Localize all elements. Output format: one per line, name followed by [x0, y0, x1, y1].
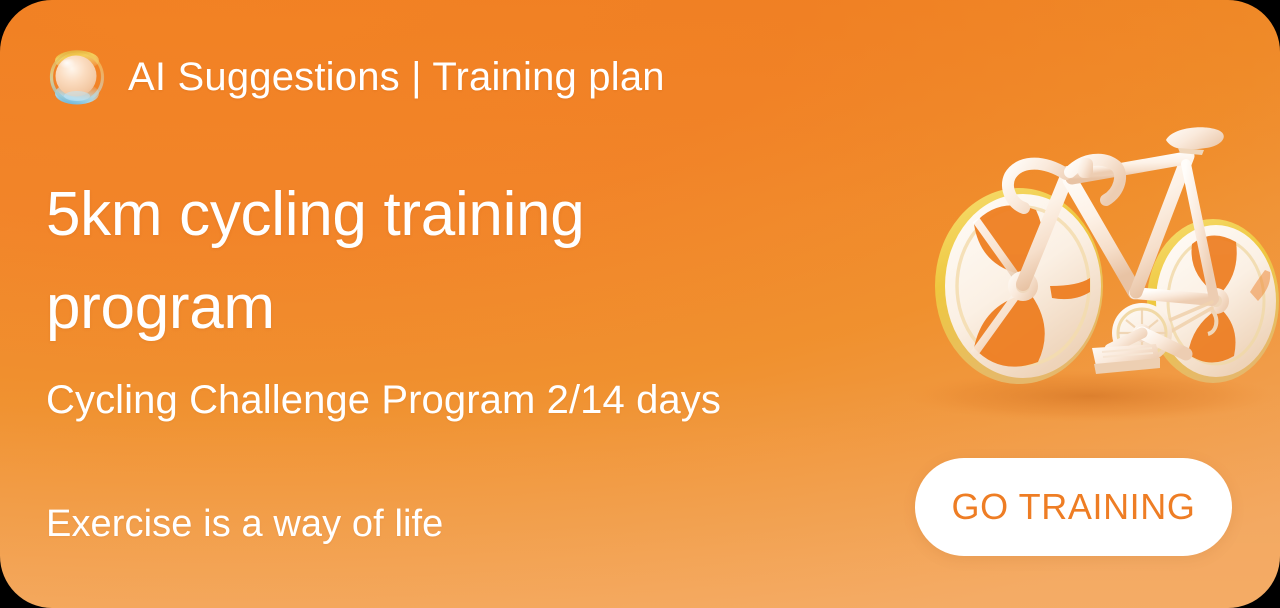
stem-clamp	[1078, 158, 1093, 178]
derailleur	[1208, 310, 1216, 334]
pedal	[1092, 344, 1160, 374]
motivational-tagline: Exercise is a way of life	[46, 504, 906, 546]
header-title: AI Suggestions | Training plan	[128, 57, 665, 97]
program-progress-text: Cycling Challenge Program 2/14 days	[46, 378, 906, 422]
go-training-button[interactable]: GO TRAINING	[915, 458, 1232, 556]
card-header: AI Suggestions | Training plan	[46, 46, 665, 108]
front-wheel	[935, 188, 1103, 384]
saddle	[1166, 127, 1224, 155]
page-title: 5km cycling training program	[46, 168, 746, 354]
crankset	[1110, 303, 1186, 363]
training-plan-card: AI Suggestions | Training plan	[0, 0, 1280, 608]
ai-orb-icon	[46, 46, 108, 108]
rear-wheel	[1147, 219, 1279, 383]
road-bicycle-illustration	[920, 96, 1280, 426]
card-content: 5km cycling training program Cycling Cha…	[46, 168, 906, 546]
bicycle-frame	[1008, 156, 1214, 340]
